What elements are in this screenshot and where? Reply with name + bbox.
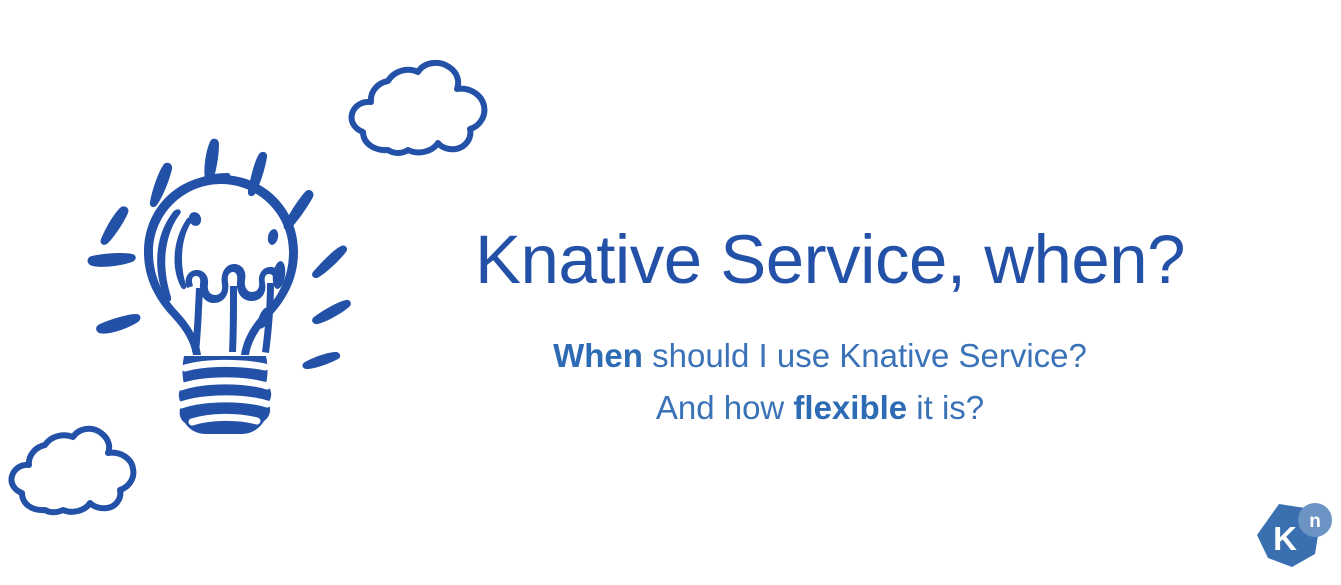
knative-k-letter: K <box>1273 520 1297 557</box>
cloud-icon <box>344 58 504 168</box>
subtitle-line-2: And how flexible it is? <box>420 382 1220 434</box>
knative-n-letter: n <box>1309 511 1321 532</box>
page-subtitle: When should I use Knative Service? And h… <box>420 330 1220 434</box>
knative-hexagon-icon <box>1257 504 1319 567</box>
lightbulb-icon <box>78 128 364 434</box>
subtitle-line-1-strong: When <box>553 337 643 374</box>
cloud-icon <box>4 424 154 527</box>
slide-canvas: Knative Service, when? When should I use… <box>0 0 1341 585</box>
knative-logo: K n <box>1245 500 1337 580</box>
subtitle-line-1: When should I use Knative Service? <box>420 330 1220 382</box>
subtitle-line-2-prefix: And how <box>656 389 794 426</box>
subtitle-line-1-rest: should I use Knative Service? <box>643 337 1087 374</box>
subtitle-line-2-strong: flexible <box>793 389 907 426</box>
subtitle-line-2-rest: it is? <box>907 389 984 426</box>
knative-n-badge-icon <box>1298 503 1332 537</box>
page-title: Knative Service, when? <box>440 224 1220 296</box>
